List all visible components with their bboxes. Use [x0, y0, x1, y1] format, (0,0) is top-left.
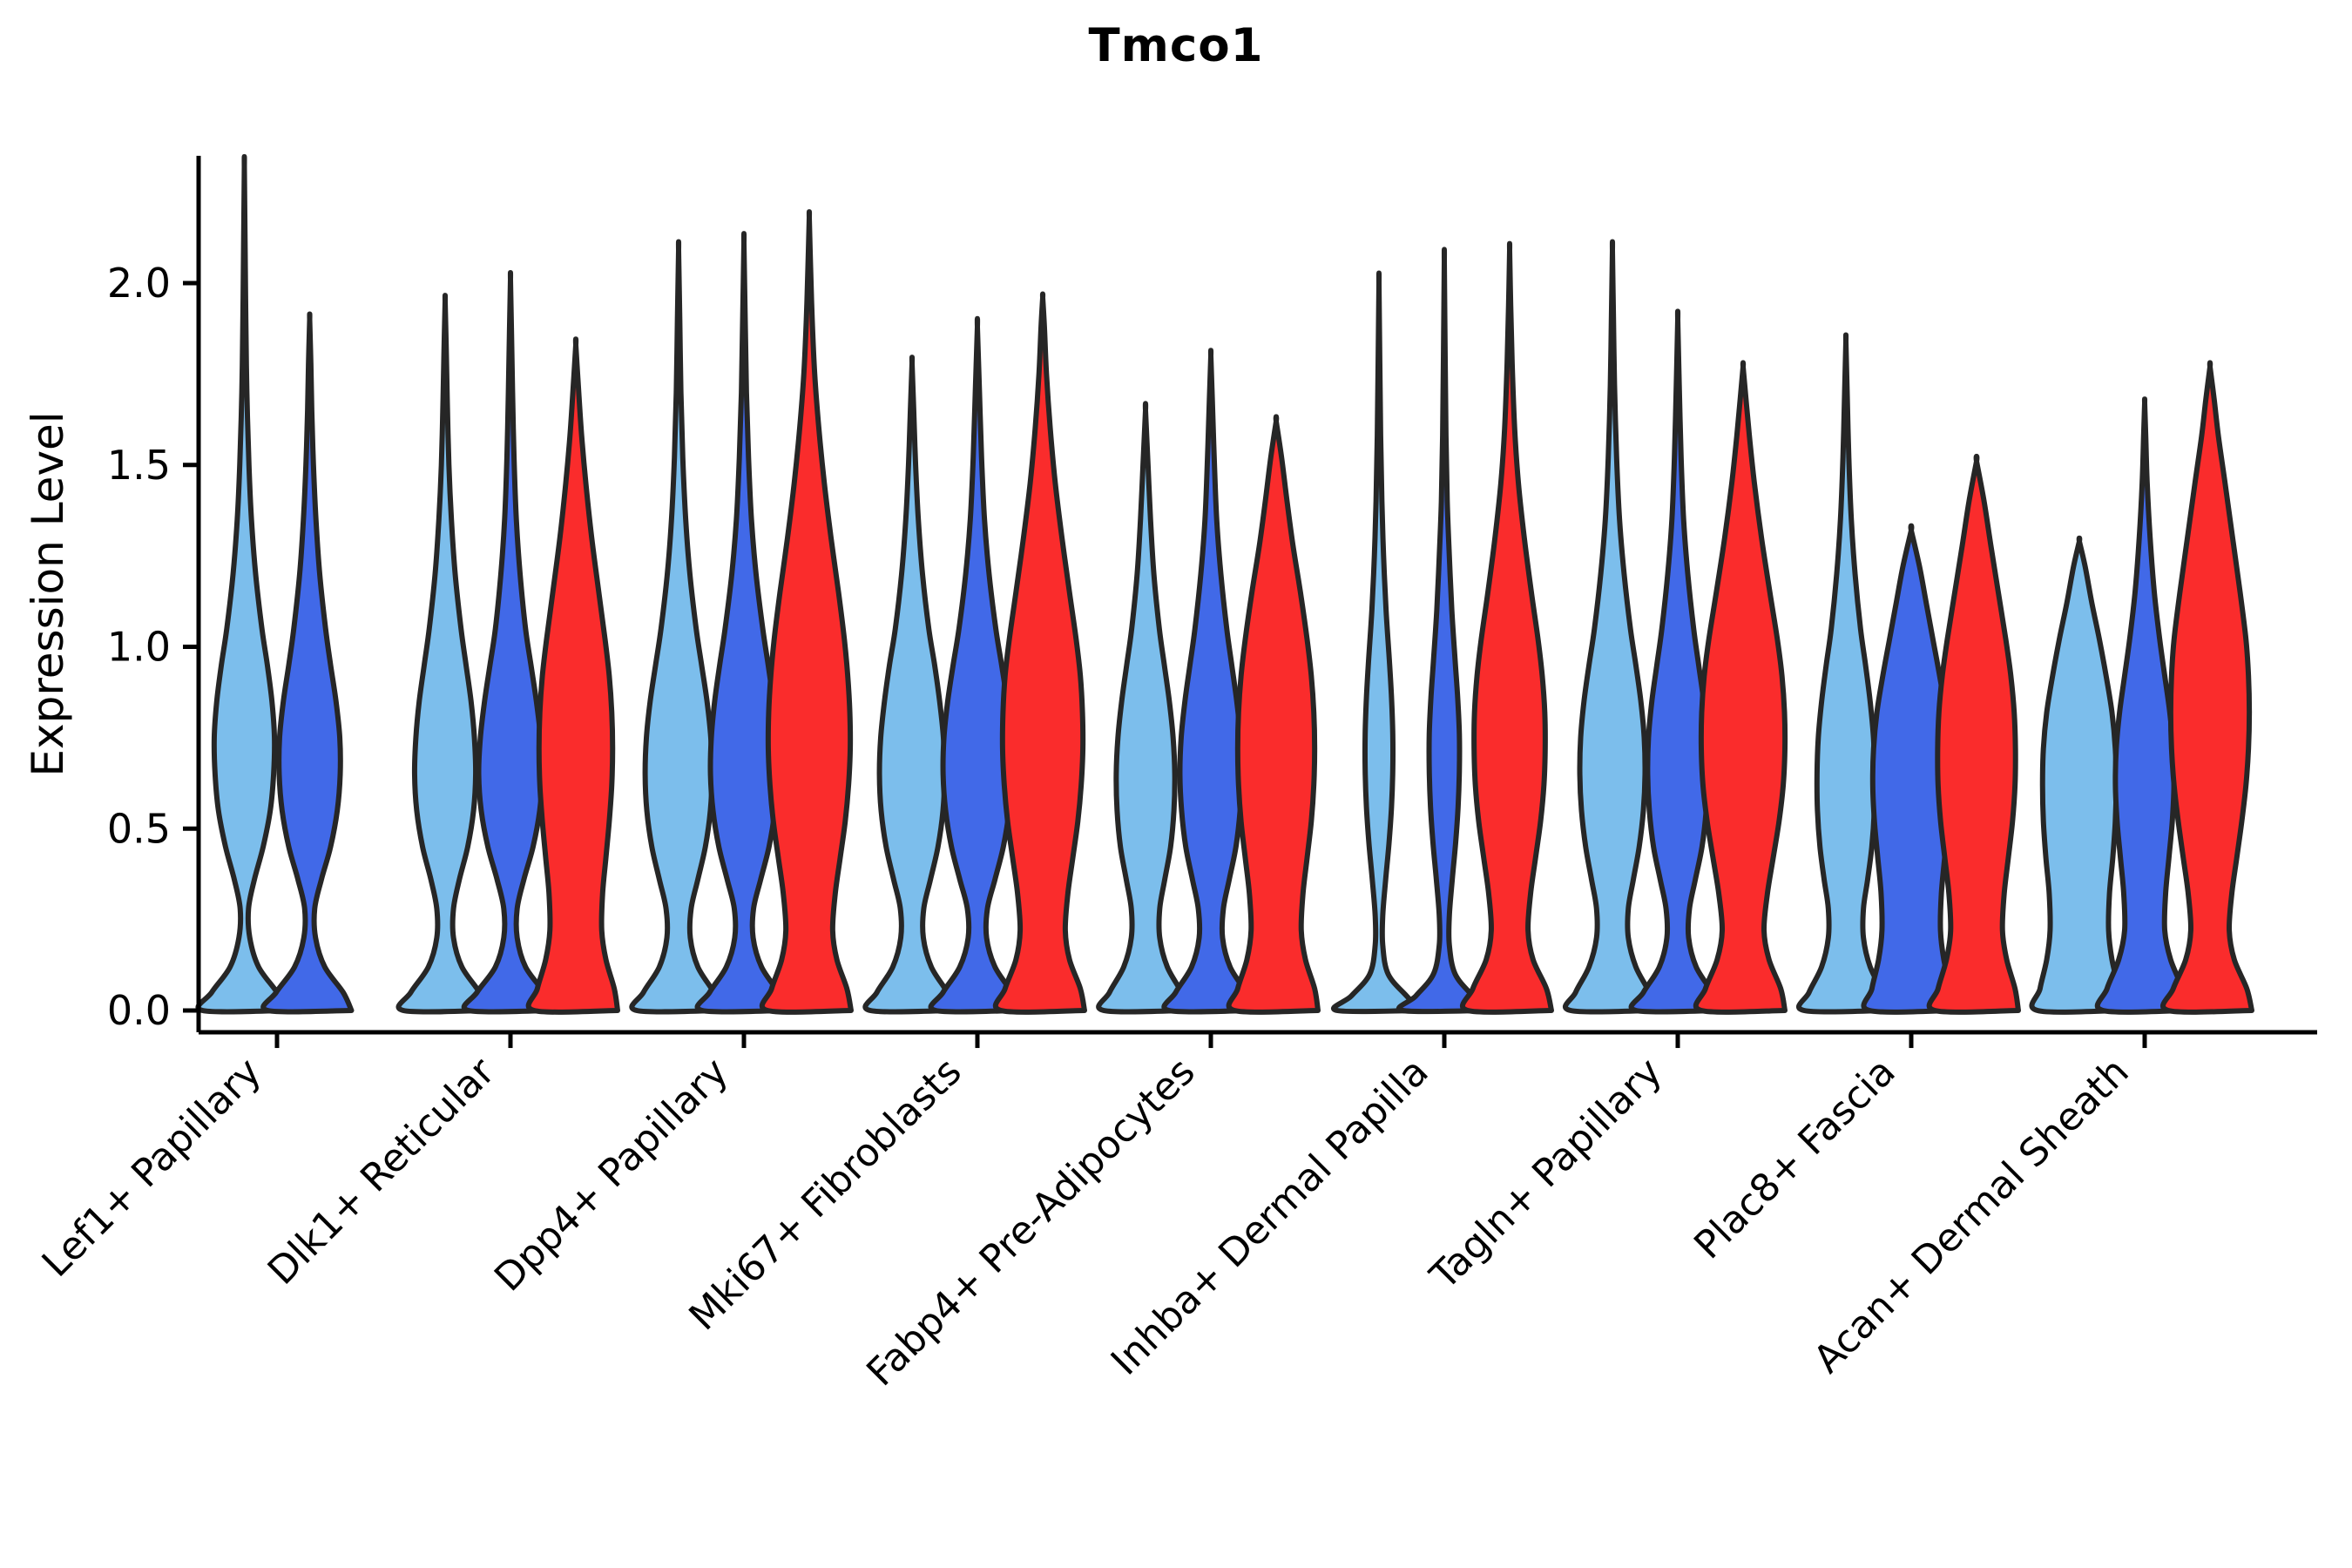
violin-shape	[398, 295, 487, 1011]
x-tick-label: Plac8+ Fascia	[1686, 1050, 1904, 1268]
violin-plot-figure: Tmco1 0.00.51.01.52.0 Lef1+ PapillaryDlk…	[0, 0, 2352, 1568]
violin-shape	[1334, 274, 1421, 1012]
violin-shape	[1399, 249, 1486, 1011]
plot-area: 0.00.51.01.52.0 Lef1+ PapillaryDlk1+ Ret…	[0, 0, 2352, 1568]
violin-shape	[2031, 538, 2121, 1012]
violin-shape	[1799, 335, 1888, 1011]
y-tick-label: 2.0	[107, 260, 171, 307]
violin-shape	[1565, 242, 1654, 1012]
violin-shape	[464, 273, 552, 1012]
violin-shape	[762, 212, 851, 1012]
violin-shape	[996, 294, 1085, 1012]
violin-shape	[865, 357, 954, 1011]
violin-shape	[198, 157, 286, 1012]
violin-shape	[1696, 362, 1785, 1012]
violin-shape	[1229, 416, 1318, 1011]
violin-shape	[529, 339, 618, 1012]
y-tick-labels: 0.00.51.01.52.0	[107, 260, 199, 1034]
violin-shape	[698, 233, 786, 1011]
y-tick-label: 0.5	[107, 805, 171, 852]
x-tick-label: Tagln+ Papillary	[1422, 1050, 1671, 1299]
x-tick-labels: Lef1+ PapillaryDlk1+ ReticularDpp4+ Papi…	[34, 1032, 2145, 1395]
y-axis-label: Expression Level	[23, 411, 73, 776]
violin-shape	[1463, 244, 1551, 1012]
x-tick-label: Dlk1+ Reticular	[260, 1049, 504, 1294]
violin-shape	[1098, 403, 1187, 1011]
y-tick-label: 1.5	[107, 442, 171, 489]
y-tick-label: 0.0	[107, 987, 171, 1034]
y-axis-title: Expression Level	[23, 411, 73, 776]
x-tick-label: Lef1+ Papillary	[34, 1050, 270, 1286]
x-tick-label: Dpp4+ Papillary	[486, 1050, 737, 1301]
violin-shape	[632, 242, 720, 1012]
violin-shape	[2163, 362, 2252, 1012]
violin-shape	[263, 314, 351, 1011]
y-tick-label: 1.0	[107, 624, 171, 671]
violins-layer	[198, 157, 2252, 1012]
